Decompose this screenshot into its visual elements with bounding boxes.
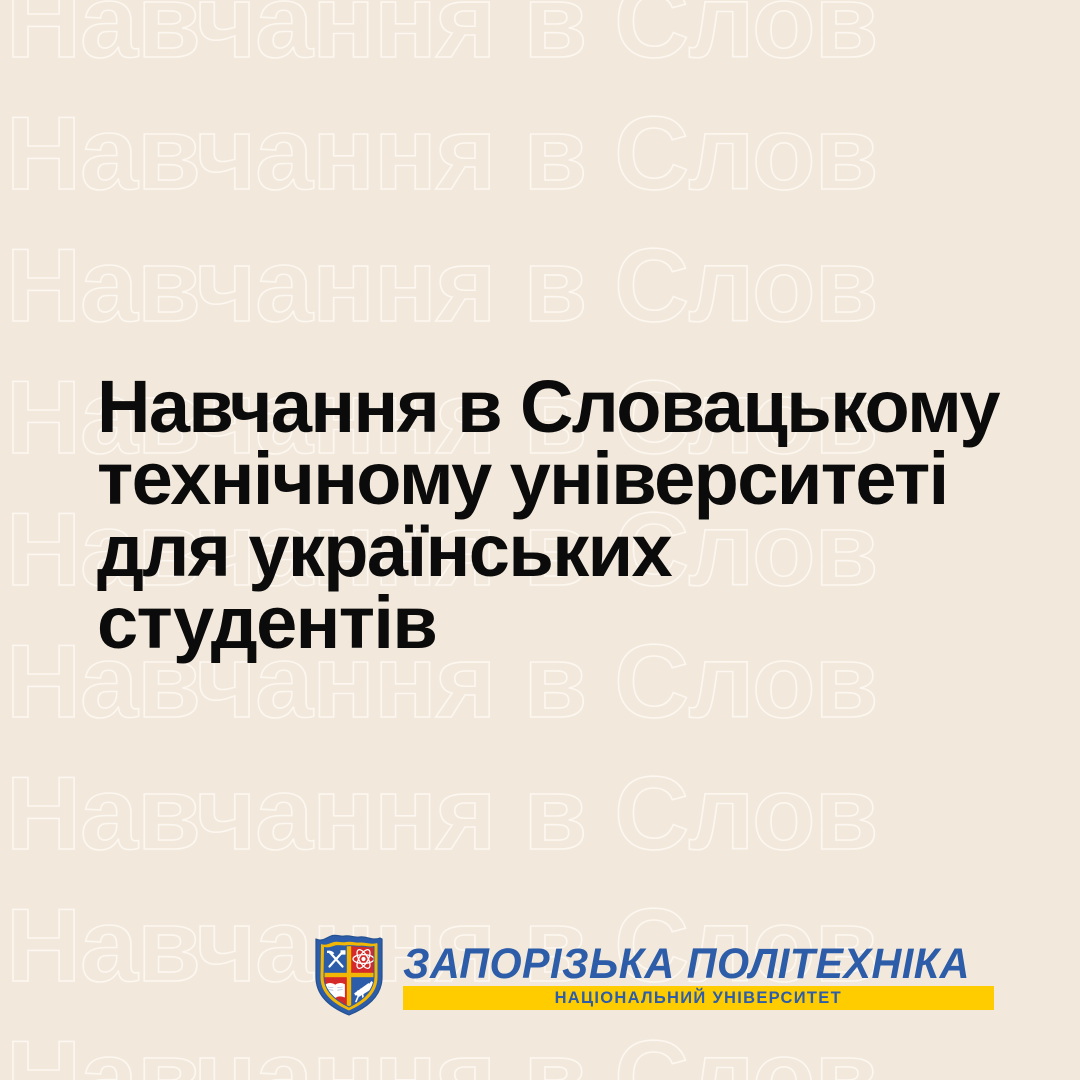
university-crest-icon xyxy=(312,933,388,1019)
page-title: Навчання в Словацькому технічному універ… xyxy=(97,371,1027,659)
watermark-row: Навчання в Слов xyxy=(6,234,877,338)
watermark-row: Навчання в Слов xyxy=(6,0,877,74)
headline-line-4: студентів xyxy=(97,587,1027,659)
headline-line-2: технічному університеті xyxy=(97,443,1027,515)
headline-line-3: для українських xyxy=(97,515,1027,587)
logo-wordmark: ЗАПОРІЗЬКА ПОЛІТЕХНІКА xyxy=(403,946,970,982)
poster-canvas: Навчання в СловНавчання в СловНавчання в… xyxy=(0,0,1080,1080)
watermark-row: Навчання в Слов xyxy=(6,1026,877,1080)
headline-line-1: Навчання в Словацькому xyxy=(97,371,1027,443)
logo-subtitle-bar: НАЦІОНАЛЬНИЙ УНІВЕРСИТЕТ xyxy=(403,986,994,1010)
watermark-row: Навчання в Слов xyxy=(6,102,877,206)
logo-subtitle: НАЦІОНАЛЬНИЙ УНІВЕРСИТЕТ xyxy=(555,990,842,1007)
logo-text-block: ЗАПОРІЗЬКА ПОЛІТЕХНІКА НАЦІОНАЛЬНИЙ УНІВ… xyxy=(403,942,994,1010)
watermark-row: Навчання в Слов xyxy=(6,762,877,866)
university-logo: ЗАПОРІЗЬКА ПОЛІТЕХНІКА НАЦІОНАЛЬНИЙ УНІВ… xyxy=(312,933,994,1019)
